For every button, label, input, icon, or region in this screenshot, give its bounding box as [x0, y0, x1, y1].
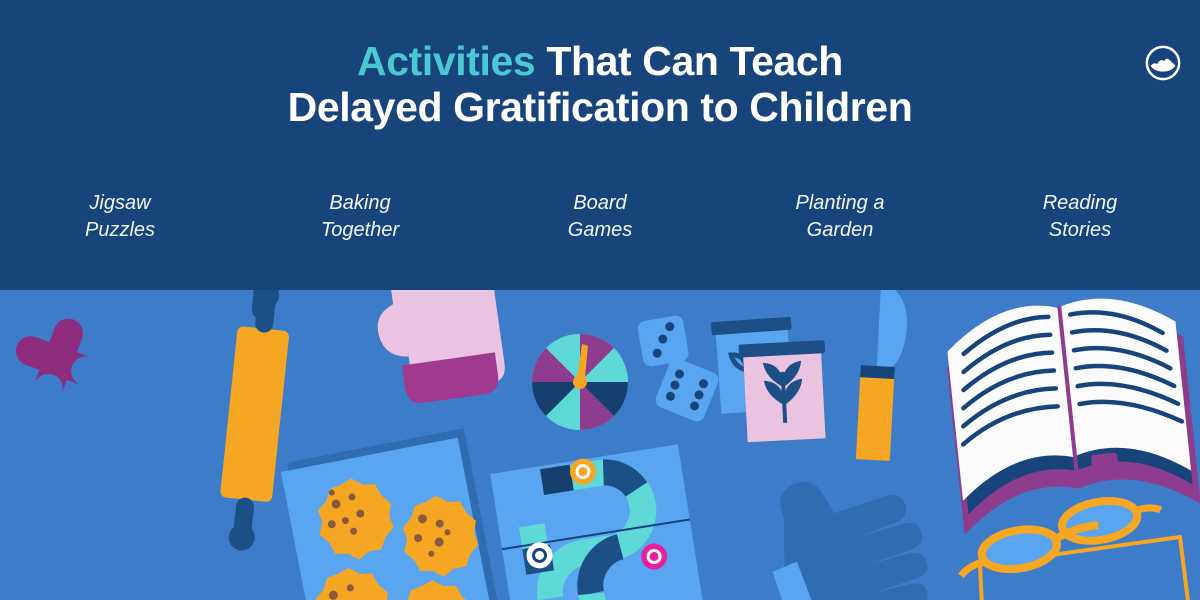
- activity-labels-row: Jigsaw Puzzles Baking Together Board Gam…: [0, 190, 1200, 260]
- sidebar-item-planting-garden[interactable]: Planting a Garden: [720, 190, 960, 260]
- open-book: [941, 290, 1200, 535]
- infographic-canvas: Activities That Can Teach Delayed Gratif…: [0, 0, 1200, 600]
- label-planting-garden: Planting a Garden: [796, 190, 885, 244]
- illustration-area: [0, 290, 1200, 600]
- reading-scene: [0, 290, 1200, 600]
- sidebar-item-baking-together[interactable]: Baking Together: [240, 190, 480, 260]
- sidebar-item-board-games[interactable]: Board Games: [480, 190, 720, 260]
- page-title: Activities That Can Teach Delayed Gratif…: [0, 38, 1200, 131]
- title-line-2: Delayed Gratification to Children: [0, 84, 1200, 130]
- label-baking-together: Baking Together: [321, 190, 399, 244]
- label-reading-stories: Reading Stories: [1043, 190, 1118, 244]
- brand-logo-icon[interactable]: [1144, 44, 1182, 82]
- book-bookmark: [1091, 452, 1119, 477]
- label-board-games: Board Games: [568, 190, 632, 244]
- label-jigsaw-puzzles: Jigsaw Puzzles: [85, 190, 155, 244]
- sidebar-item-jigsaw-puzzles[interactable]: Jigsaw Puzzles: [0, 190, 240, 260]
- title-line-1-rest: That Can Teach: [535, 38, 843, 84]
- sidebar-item-reading-stories[interactable]: Reading Stories: [960, 190, 1200, 260]
- title-accent-word: Activities: [357, 38, 535, 84]
- title-line-1: Activities That Can Teach: [0, 38, 1200, 84]
